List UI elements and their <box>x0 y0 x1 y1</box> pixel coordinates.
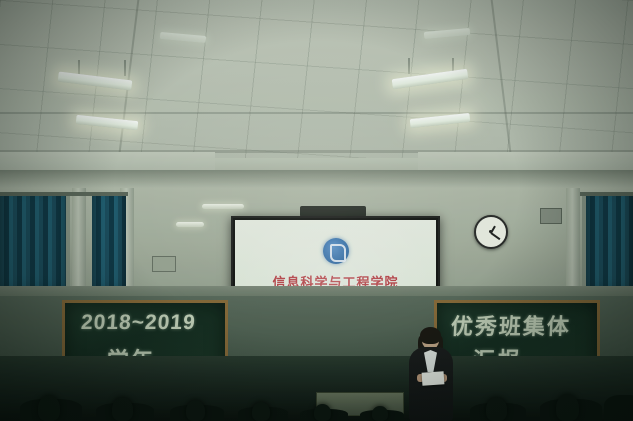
audience-head <box>372 406 388 421</box>
clock-center-dot <box>489 230 492 233</box>
presenter-notes <box>422 371 445 386</box>
wall-clock <box>474 215 508 249</box>
audience-head <box>38 395 60 421</box>
chalk-text-left-line1: 2018~2019 <box>80 311 196 335</box>
wall-speaker <box>540 208 562 224</box>
wall-shadow <box>0 170 633 188</box>
university-emblem-icon <box>323 238 349 264</box>
lamp-stem <box>124 60 126 76</box>
audience-head <box>556 394 579 421</box>
wall-trim-band <box>0 286 633 296</box>
audience-silhouette <box>604 395 633 421</box>
wall-tube-light-left <box>202 204 244 209</box>
ceiling-beam <box>0 112 633 114</box>
chalk-text-right-line1: 优秀班集体 <box>450 309 572 341</box>
audience-head <box>186 400 205 421</box>
presenter-hair <box>420 327 441 344</box>
audience-head <box>486 397 507 421</box>
presenter-standing <box>404 330 458 421</box>
audience-head <box>314 404 331 421</box>
wall-tube-light-right <box>176 222 204 227</box>
wall-pillar-far-right <box>566 188 580 300</box>
lamp-stem <box>408 58 410 74</box>
clock-minute-hand <box>491 232 501 240</box>
wall-plaque <box>152 256 176 272</box>
wall-pillar-left <box>72 188 86 300</box>
audience-head <box>252 402 270 421</box>
audience-head <box>112 397 133 421</box>
photo-scene: 信息科学与工程学院 优秀班集体汇报 2019年11月20日 2018~2019 … <box>0 0 633 421</box>
